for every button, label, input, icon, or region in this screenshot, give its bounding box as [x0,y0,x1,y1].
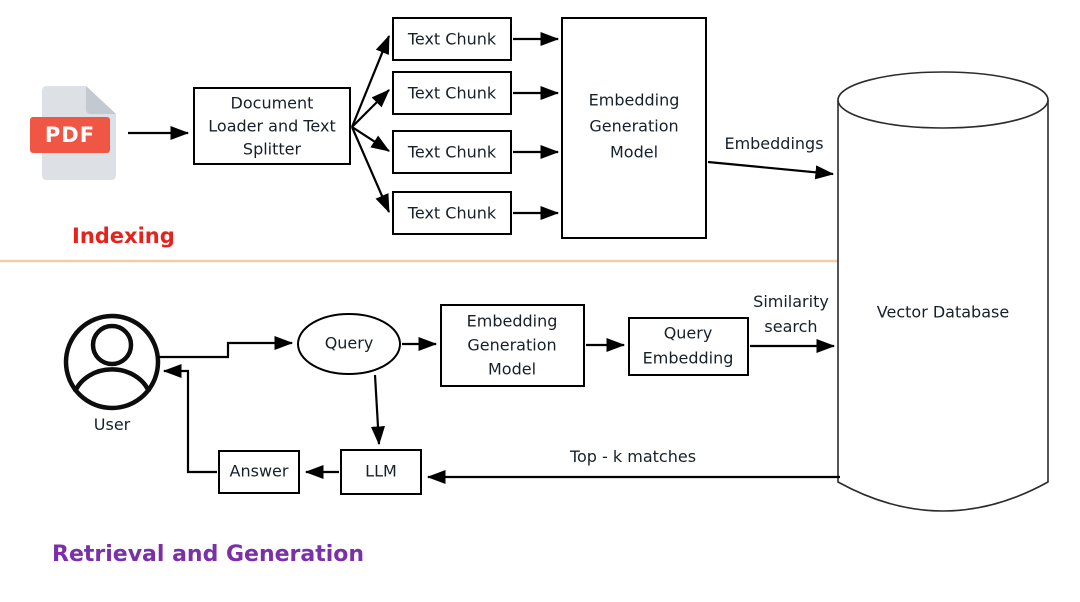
text-chunk-1-label: Text Chunk [407,30,497,49]
embedding-model-retrieval-line-1: Embedding [467,312,558,331]
rag-architecture-diagram: PDF Document Loader and Text Splitter Te… [0,0,1080,602]
node-answer: Answer [219,451,299,493]
embedding-model-indexing-line-3: Model [610,143,658,162]
node-embedding-generation-model-retrieval: Embedding Generation Model [441,305,584,386]
document-loader-line-1: Document [231,94,314,113]
node-embedding-generation-model-indexing: Embedding Generation Model [562,18,706,238]
pdf-badge-label: PDF [45,123,95,147]
node-llm: LLM [341,450,421,494]
arrow-loader-to-chunk-2 [352,90,389,127]
node-query-embedding: Query Embedding [629,318,748,375]
node-text-chunk-4: Text Chunk [393,192,511,234]
embedding-model-indexing-line-1: Embedding [589,91,680,110]
embedding-model-retrieval-line-2: Generation [467,336,556,355]
arrow-user-to-query [158,343,292,357]
query-embedding-line-1: Query [664,324,713,343]
text-chunk-2-label: Text Chunk [407,84,497,103]
arrow-embeddings-to-vector-db [708,162,833,174]
section-label-indexing: Indexing [72,224,175,248]
text-chunk-3-label: Text Chunk [407,143,497,162]
llm-label: LLM [365,462,397,481]
embedding-model-retrieval-line-3: Model [488,360,536,379]
node-text-chunk-1: Text Chunk [393,18,511,60]
embedding-model-indexing-line-2: Generation [589,117,678,136]
vector-database-label: Vector Database [877,303,1009,322]
node-text-chunk-3: Text Chunk [393,131,511,173]
document-loader-line-3: Splitter [243,140,302,159]
user-avatar-icon [66,316,158,408]
query-label: Query [325,334,374,353]
edge-label-top-k-matches: Top - k matches [569,447,696,466]
edge-label-embeddings: Embeddings [724,134,823,153]
arrow-loader-to-chunk-1 [352,36,389,127]
edge-label-similarity-search-line-1: Similarity [753,292,829,311]
arrow-answer-to-user [164,371,217,472]
node-query: Query [298,314,400,374]
edge-label-similarity-search-line-2: search [764,317,817,336]
text-chunk-4-label: Text Chunk [407,204,497,223]
pdf-file-icon: PDF [30,86,116,180]
user-label: User [94,415,131,434]
document-loader-line-2: Loader and Text [208,117,335,136]
node-document-loader: Document Loader and Text Splitter [194,88,350,164]
arrow-query-to-llm [375,375,379,444]
answer-label: Answer [230,462,289,481]
node-vector-database: Vector Database [838,72,1048,511]
node-text-chunk-2: Text Chunk [393,72,511,114]
section-label-retrieval: Retrieval and Generation [52,542,364,567]
query-embedding-line-2: Embedding [643,349,734,368]
